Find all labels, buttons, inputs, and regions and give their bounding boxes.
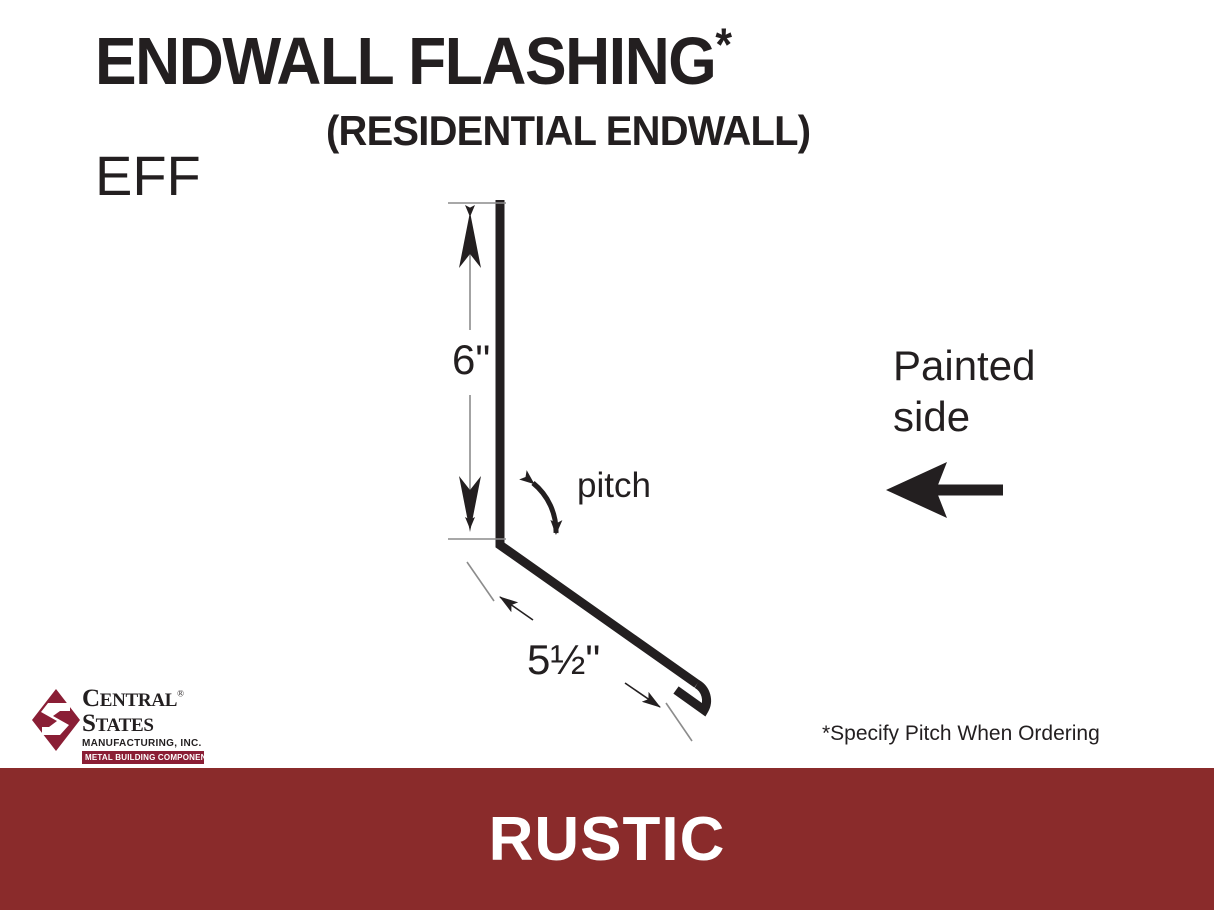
company-logo: CENTRAL® STATES MANUFACTURING, INC. META…	[32, 687, 202, 752]
central-states-diamond-icon	[32, 689, 80, 751]
logo-central-small: ENTRAL	[100, 690, 177, 711]
color-banner: RUSTIC	[0, 768, 1214, 910]
pitch-label: pitch	[577, 466, 651, 506]
metal-profile-path	[500, 200, 707, 710]
logo-wordmark: CENTRAL® STATES MANUFACTURING, INC. META…	[82, 687, 204, 764]
dimension-label-slope: 5½"	[527, 636, 600, 684]
logo-tagline: METAL BUILDING COMPONENTS	[82, 751, 204, 764]
footnote-specify-pitch: *Specify Pitch When Ordering	[822, 722, 1100, 746]
painted-side-line-2: side	[893, 391, 1035, 442]
logo-name-line-2: STATES	[82, 712, 204, 736]
painted-side-line-1: Painted	[893, 340, 1035, 391]
pitch-angle-arrow	[533, 483, 556, 533]
registered-trademark-icon: ®	[177, 689, 184, 699]
color-name-label: RUSTIC	[0, 768, 1214, 910]
painted-side-arrow-icon	[886, 462, 1003, 518]
logo-name-line-1: CENTRAL®	[82, 687, 204, 711]
dimension-label-height: 6"	[452, 336, 490, 384]
logo-states-small: TATES	[96, 715, 154, 736]
logo-company-suffix: MANUFACTURING, INC.	[82, 738, 204, 749]
painted-side-label: Painted side	[893, 340, 1035, 442]
product-spec-sheet: ENDWALL FLASHING* (RESIDENTIAL ENDWALL) …	[0, 0, 1214, 910]
